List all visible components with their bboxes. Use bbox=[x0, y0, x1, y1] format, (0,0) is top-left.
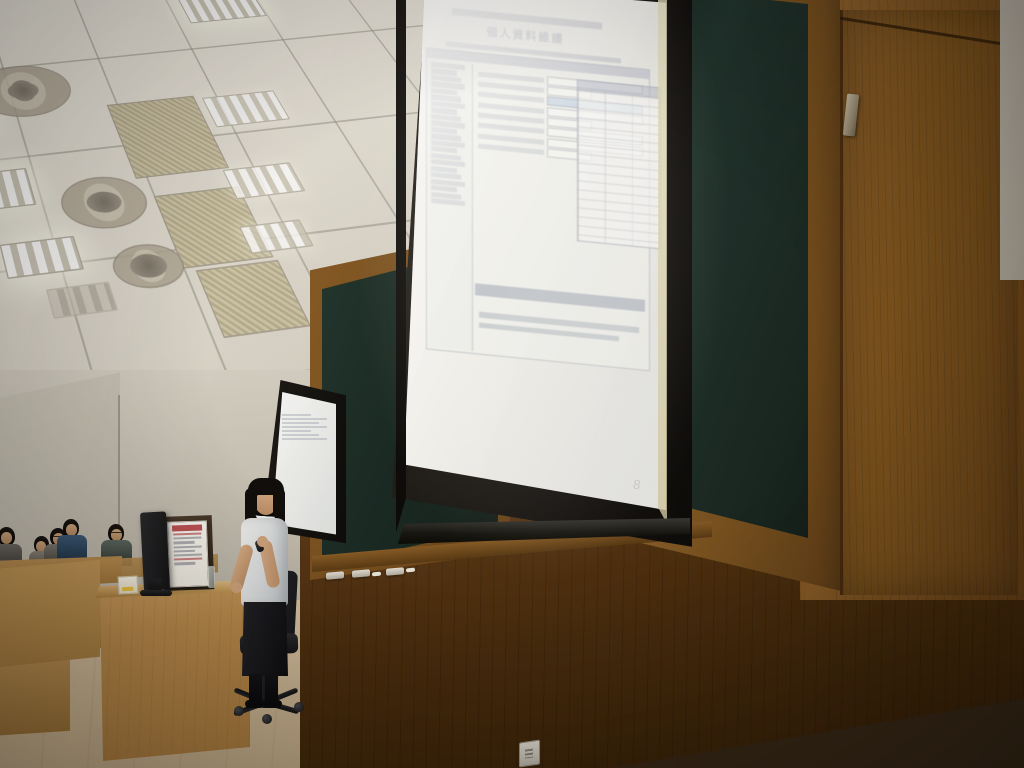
presenter-left-shoe bbox=[245, 700, 264, 708]
poster-text-line bbox=[173, 537, 201, 540]
presenter bbox=[233, 478, 295, 710]
secondary-screen-line bbox=[282, 430, 311, 432]
presenter-skirt bbox=[242, 602, 288, 676]
corner-wall-strip bbox=[1000, 0, 1024, 280]
poster-text-line bbox=[173, 533, 201, 536]
presenter-right-hand bbox=[257, 536, 268, 547]
student-torso bbox=[57, 535, 87, 561]
poster-text-line bbox=[174, 558, 202, 561]
wall-power-outlet bbox=[519, 740, 540, 768]
student-face bbox=[1, 532, 12, 544]
projected-slide: 個人資料維護 bbox=[412, 2, 666, 547]
secondary-screen-line bbox=[282, 438, 327, 440]
presenter-right-shoe bbox=[263, 700, 282, 708]
secondary-screen-line bbox=[282, 422, 319, 424]
poster-heading bbox=[172, 524, 202, 531]
field-label bbox=[478, 144, 544, 155]
secondary-screen-line bbox=[282, 414, 311, 416]
eyeglasses bbox=[111, 532, 122, 536]
application-window bbox=[426, 47, 650, 371]
secondary-screen-line bbox=[282, 426, 327, 428]
data-grid-body[interactable] bbox=[577, 89, 661, 249]
main-projection-screen: 個人資料維護 bbox=[404, 0, 666, 550]
side-desk bbox=[0, 560, 100, 670]
water-bottle bbox=[208, 566, 215, 588]
tissue-box bbox=[118, 575, 139, 594]
poster-text-line bbox=[174, 553, 202, 556]
presenter-left-hand bbox=[231, 582, 242, 593]
chair-caster bbox=[262, 714, 272, 724]
slide-page-number: 8 bbox=[633, 477, 640, 493]
screen-left-edge bbox=[396, 0, 406, 556]
secondary-screen-line bbox=[282, 418, 327, 420]
secondary-screen-line bbox=[282, 434, 319, 436]
lecture-hall-photo: 個人資料維護 bbox=[0, 0, 1024, 768]
printed-poster bbox=[167, 520, 209, 587]
poster-text-line bbox=[174, 550, 195, 553]
chair-caster bbox=[294, 702, 304, 712]
navigation-tree-panel[interactable] bbox=[429, 60, 473, 351]
lecture-podium bbox=[100, 586, 250, 761]
form-footer-band bbox=[475, 283, 645, 312]
poster-text-line bbox=[174, 541, 195, 544]
classroom-door[interactable] bbox=[840, 10, 1018, 595]
poster-text-line bbox=[174, 545, 202, 548]
monitor-base bbox=[140, 590, 172, 596]
poster-text-line bbox=[174, 562, 195, 565]
screen-right-edge bbox=[658, 0, 667, 552]
